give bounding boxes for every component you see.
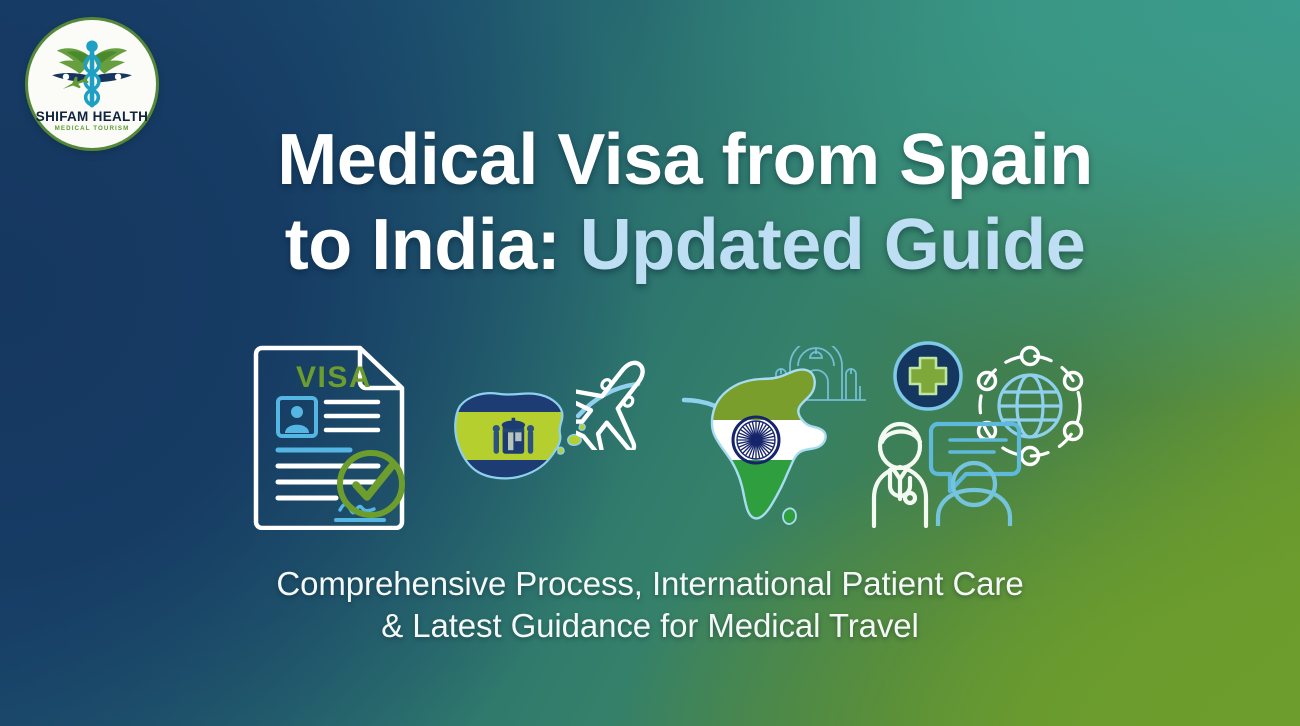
- india-map-icon: [686, 346, 866, 526]
- subtitle-block: Comprehensive Process, International Pat…: [0, 563, 1300, 647]
- title-line-1: Medical Visa from Spain: [277, 120, 1092, 200]
- title-line-2-accent: Updated Guide: [580, 205, 1086, 285]
- spain-map-icon: [438, 378, 590, 496]
- visa-label: VISA: [296, 361, 372, 394]
- subtitle-line-1: Comprehensive Process, International Pat…: [276, 565, 1023, 602]
- banner-title: Medical Visa from Spain to India: Update…: [70, 118, 1300, 288]
- ashoka-chakra-icon: [733, 417, 779, 463]
- banner-root: SHIFAM HEALTH MEDICAL TOURISM Medical Vi…: [0, 0, 1300, 726]
- title-block: Medical Visa from Spain to India: Update…: [0, 118, 1300, 288]
- subtitle-line-2: & Latest Guidance for Medical Travel: [381, 607, 919, 644]
- title-line-2-plain: to India:: [285, 205, 580, 285]
- visa-document-icon: VISA: [252, 340, 412, 530]
- banner-subtitle: Comprehensive Process, International Pat…: [0, 563, 1300, 647]
- medical-care-icon-group: [862, 338, 1102, 528]
- speech-bubble-icon: [931, 424, 1019, 491]
- medical-cross-badge-icon: [895, 343, 961, 409]
- caduceus-icon: [46, 37, 138, 109]
- plane-body: [576, 335, 677, 450]
- icon-strip: VISA: [0, 330, 1300, 535]
- globe-network-icon: [979, 348, 1082, 465]
- doctor-icon: [874, 424, 926, 526]
